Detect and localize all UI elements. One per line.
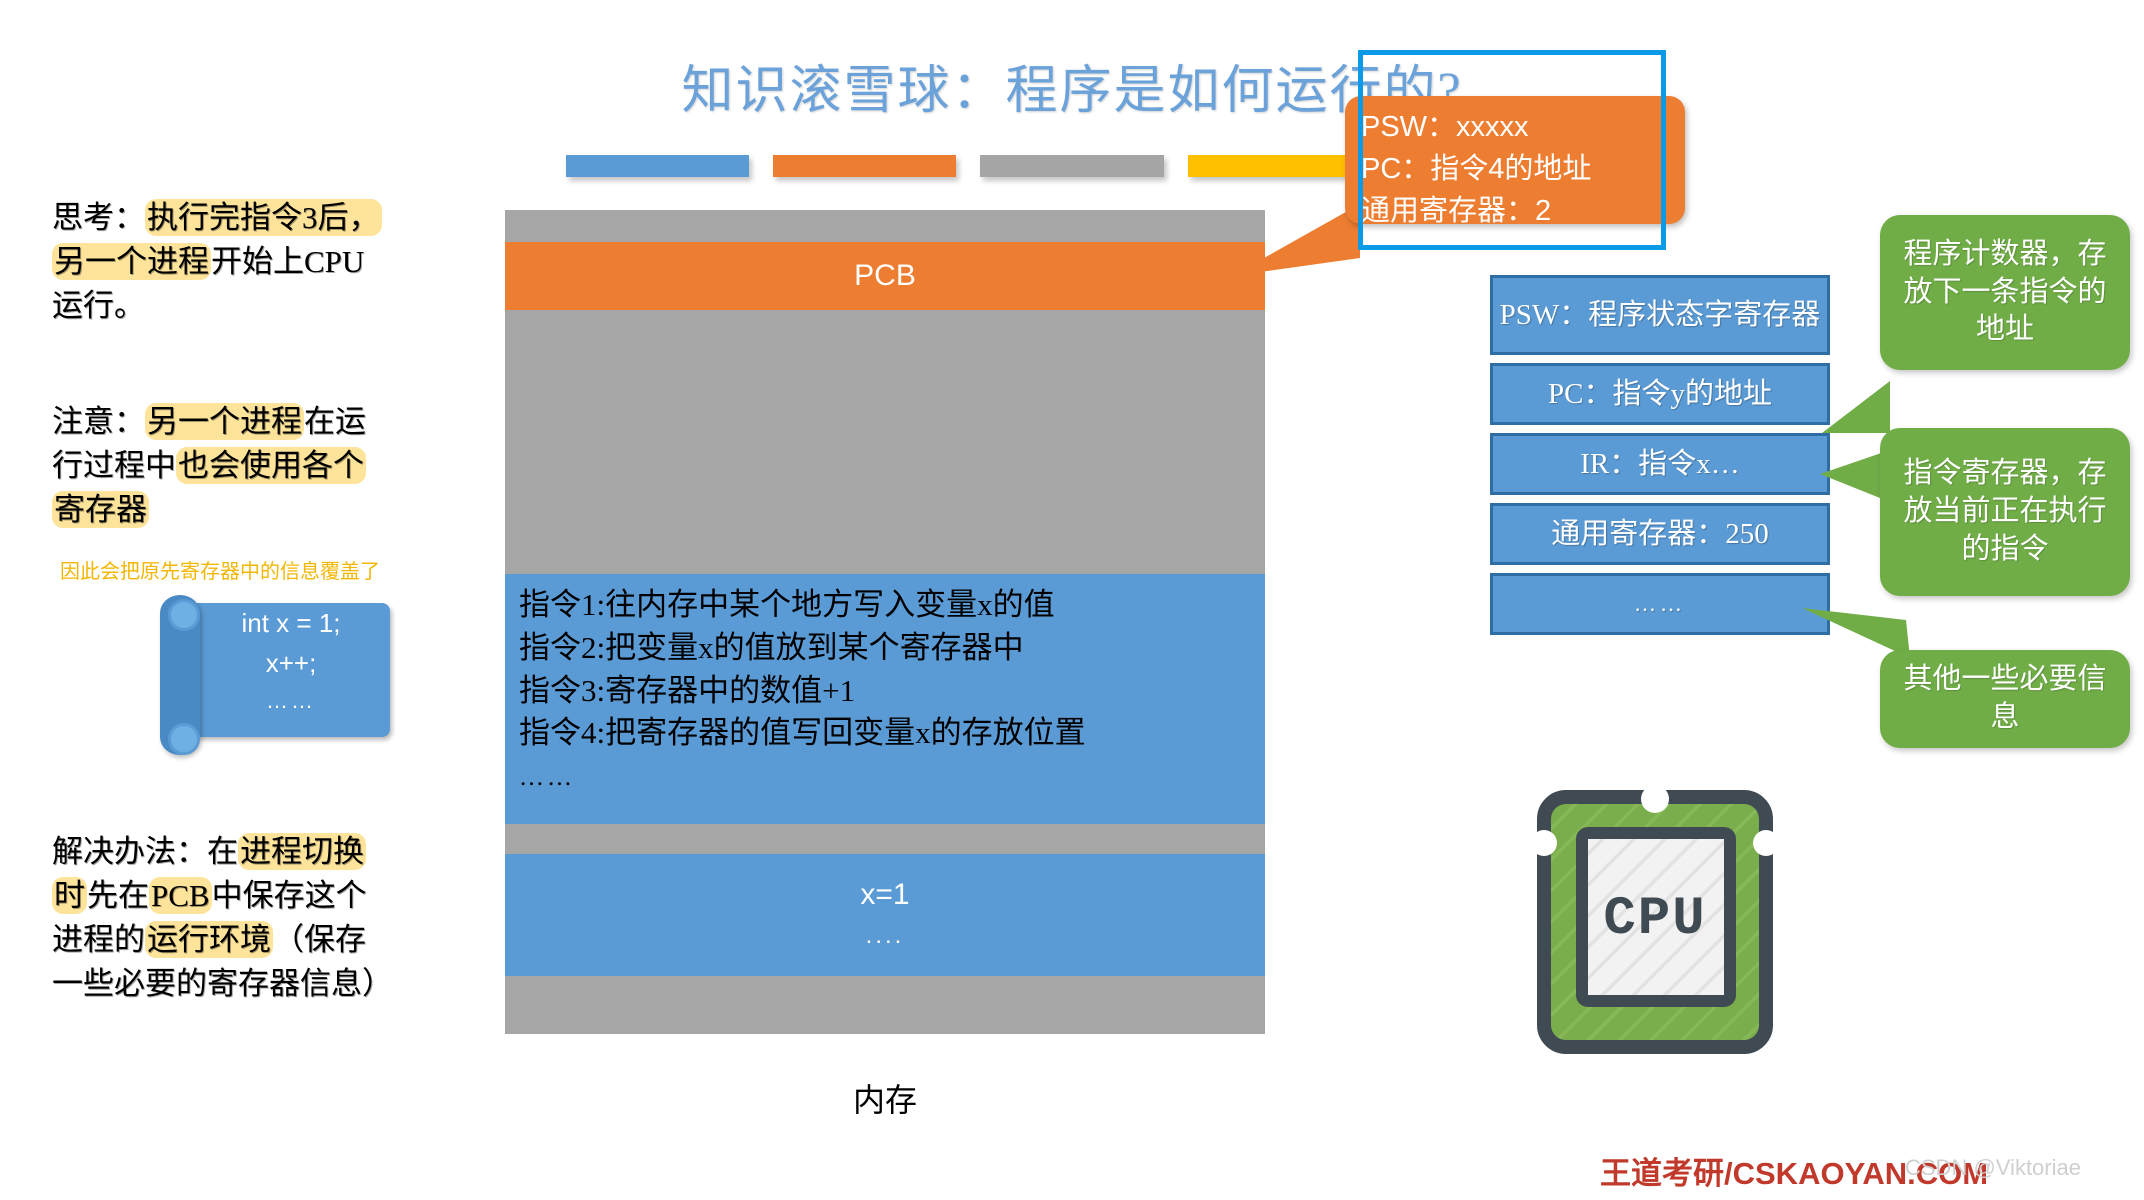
register-pc[interactable]: PC：指令y的地址	[1490, 363, 1830, 425]
register-other-label: ……	[1634, 590, 1686, 618]
code-line-2: x++;	[192, 643, 390, 683]
instruction-more: ……	[519, 755, 1265, 796]
instruction-3: 指令3:寄存器中的数值+1	[519, 670, 1265, 713]
title-bar-4	[1188, 155, 1371, 177]
register-general[interactable]: 通用寄存器：250	[1490, 503, 1830, 565]
memory-diagram: PCB 指令1:往内存中某个地方写入变量x的值 指令2:把变量x的值放到某个寄存…	[505, 210, 1265, 1050]
memory-seg-gray-2	[505, 310, 1265, 574]
watermark: CSDN @Viktoriae	[1905, 1155, 2081, 1181]
think-label: 思考：	[52, 200, 145, 235]
pcb-label: PCB	[505, 242, 1265, 310]
title-bar-3	[980, 155, 1163, 177]
instruction-2: 指令2:把变量x的值放到某个寄存器中	[519, 627, 1265, 670]
page-title: 知识滚雪球：程序是如何运行的?	[0, 48, 2144, 123]
green-tail-1-icon	[1820, 375, 1890, 445]
register-general-label: 通用寄存器：250	[1551, 516, 1769, 552]
green-callout-other-text: 其他一些必要信息	[1894, 661, 2116, 736]
memory-seg-gray-3	[505, 824, 1265, 854]
instruction-list: 指令1:往内存中某个地方写入变量x的值 指令2:把变量x的值放到某个寄存器中 指…	[505, 574, 1265, 796]
scroll-curl-bottom-icon	[168, 723, 200, 755]
solution-highlight-3: 运行环境	[145, 921, 273, 958]
instruction-1: 指令1:往内存中某个地方写入变量x的值	[519, 584, 1265, 627]
think-highlight-1: 执行完指令3后，	[145, 199, 382, 236]
think-highlight-2: 另一个进程	[52, 243, 211, 280]
notice-label: 注意：	[52, 404, 145, 439]
overwrite-note: 因此会把原先寄存器中的信息覆盖了	[60, 560, 490, 584]
code-scroll: int x = 1; x++; ……	[160, 595, 390, 760]
code-line-1: int x = 1;	[192, 603, 390, 643]
solution-plain-1: 在	[207, 834, 238, 869]
memory-seg-data: x=1 ....	[505, 854, 1265, 976]
solution-paragraph: 解决办法：在进程切换时先在PCB中保存这个进程的运行环境（保存一些必要的寄存器信…	[52, 830, 392, 1006]
register-pc-label: PC：指令y的地址	[1548, 376, 1772, 412]
memory-seg-pcb: PCB	[505, 242, 1265, 310]
green-callout-ir-text: 指令寄存器，存放当前正在执行的指令	[1894, 455, 2116, 568]
register-other[interactable]: ……	[1490, 573, 1830, 635]
scroll-spine-icon	[160, 595, 200, 755]
title-bar-2	[773, 155, 956, 177]
green-callout-ir: 指令寄存器，存放当前正在执行的指令	[1880, 428, 2130, 596]
highlight-frame	[1358, 50, 1666, 250]
memory-caption: 内存	[505, 1075, 1265, 1121]
callout-tail-icon	[1230, 200, 1360, 280]
solution-label: 解决办法：	[52, 834, 207, 869]
memory-seg-bottom-gray	[505, 976, 1265, 1034]
memory-seg-instructions: 指令1:往内存中某个地方写入变量x的值 指令2:把变量x的值放到某个寄存器中 指…	[505, 574, 1265, 824]
memory-data-value: x=1	[505, 878, 1265, 912]
cpu-icon-label: CPU	[1603, 889, 1706, 950]
cpu-icon: CPU	[1530, 785, 1780, 1060]
instruction-4: 指令4:把寄存器的值写回变量x的存放位置	[519, 712, 1265, 755]
green-callout-pc: 程序计数器，存放下一条指令的地址	[1880, 215, 2130, 370]
code-scroll-body: int x = 1; x++; ……	[192, 603, 390, 737]
scroll-curl-top-icon	[168, 599, 200, 631]
register-psw-label: PSW：程序状态字寄存器	[1500, 297, 1821, 333]
memory-seg-top-gray	[505, 210, 1265, 242]
green-callout-pc-text: 程序计数器，存放下一条指令的地址	[1894, 236, 2116, 349]
title-bar-1	[566, 155, 749, 177]
notice-highlight-1: 另一个进程	[145, 403, 304, 440]
notice-paragraph: 注意：另一个进程在运行过程中也会使用各个寄存器	[52, 400, 382, 532]
register-ir[interactable]: IR：指令x…	[1490, 433, 1830, 495]
solution-plain-2: 先在	[87, 878, 149, 913]
solution-highlight-2: PCB	[149, 877, 212, 914]
code-line-3: ……	[192, 684, 390, 718]
memory-data-more: ....	[505, 912, 1265, 950]
register-ir-label: IR：指令x…	[1580, 446, 1740, 482]
think-paragraph: 思考：执行完指令3后，另一个进程开始上CPU运行。	[52, 196, 382, 328]
green-callout-other: 其他一些必要信息	[1880, 650, 2130, 748]
register-psw[interactable]: PSW：程序状态字寄存器	[1490, 275, 1830, 355]
cpu-register-list: PSW：程序状态字寄存器 PC：指令y的地址 IR：指令x… 通用寄存器：250…	[1490, 275, 1830, 643]
